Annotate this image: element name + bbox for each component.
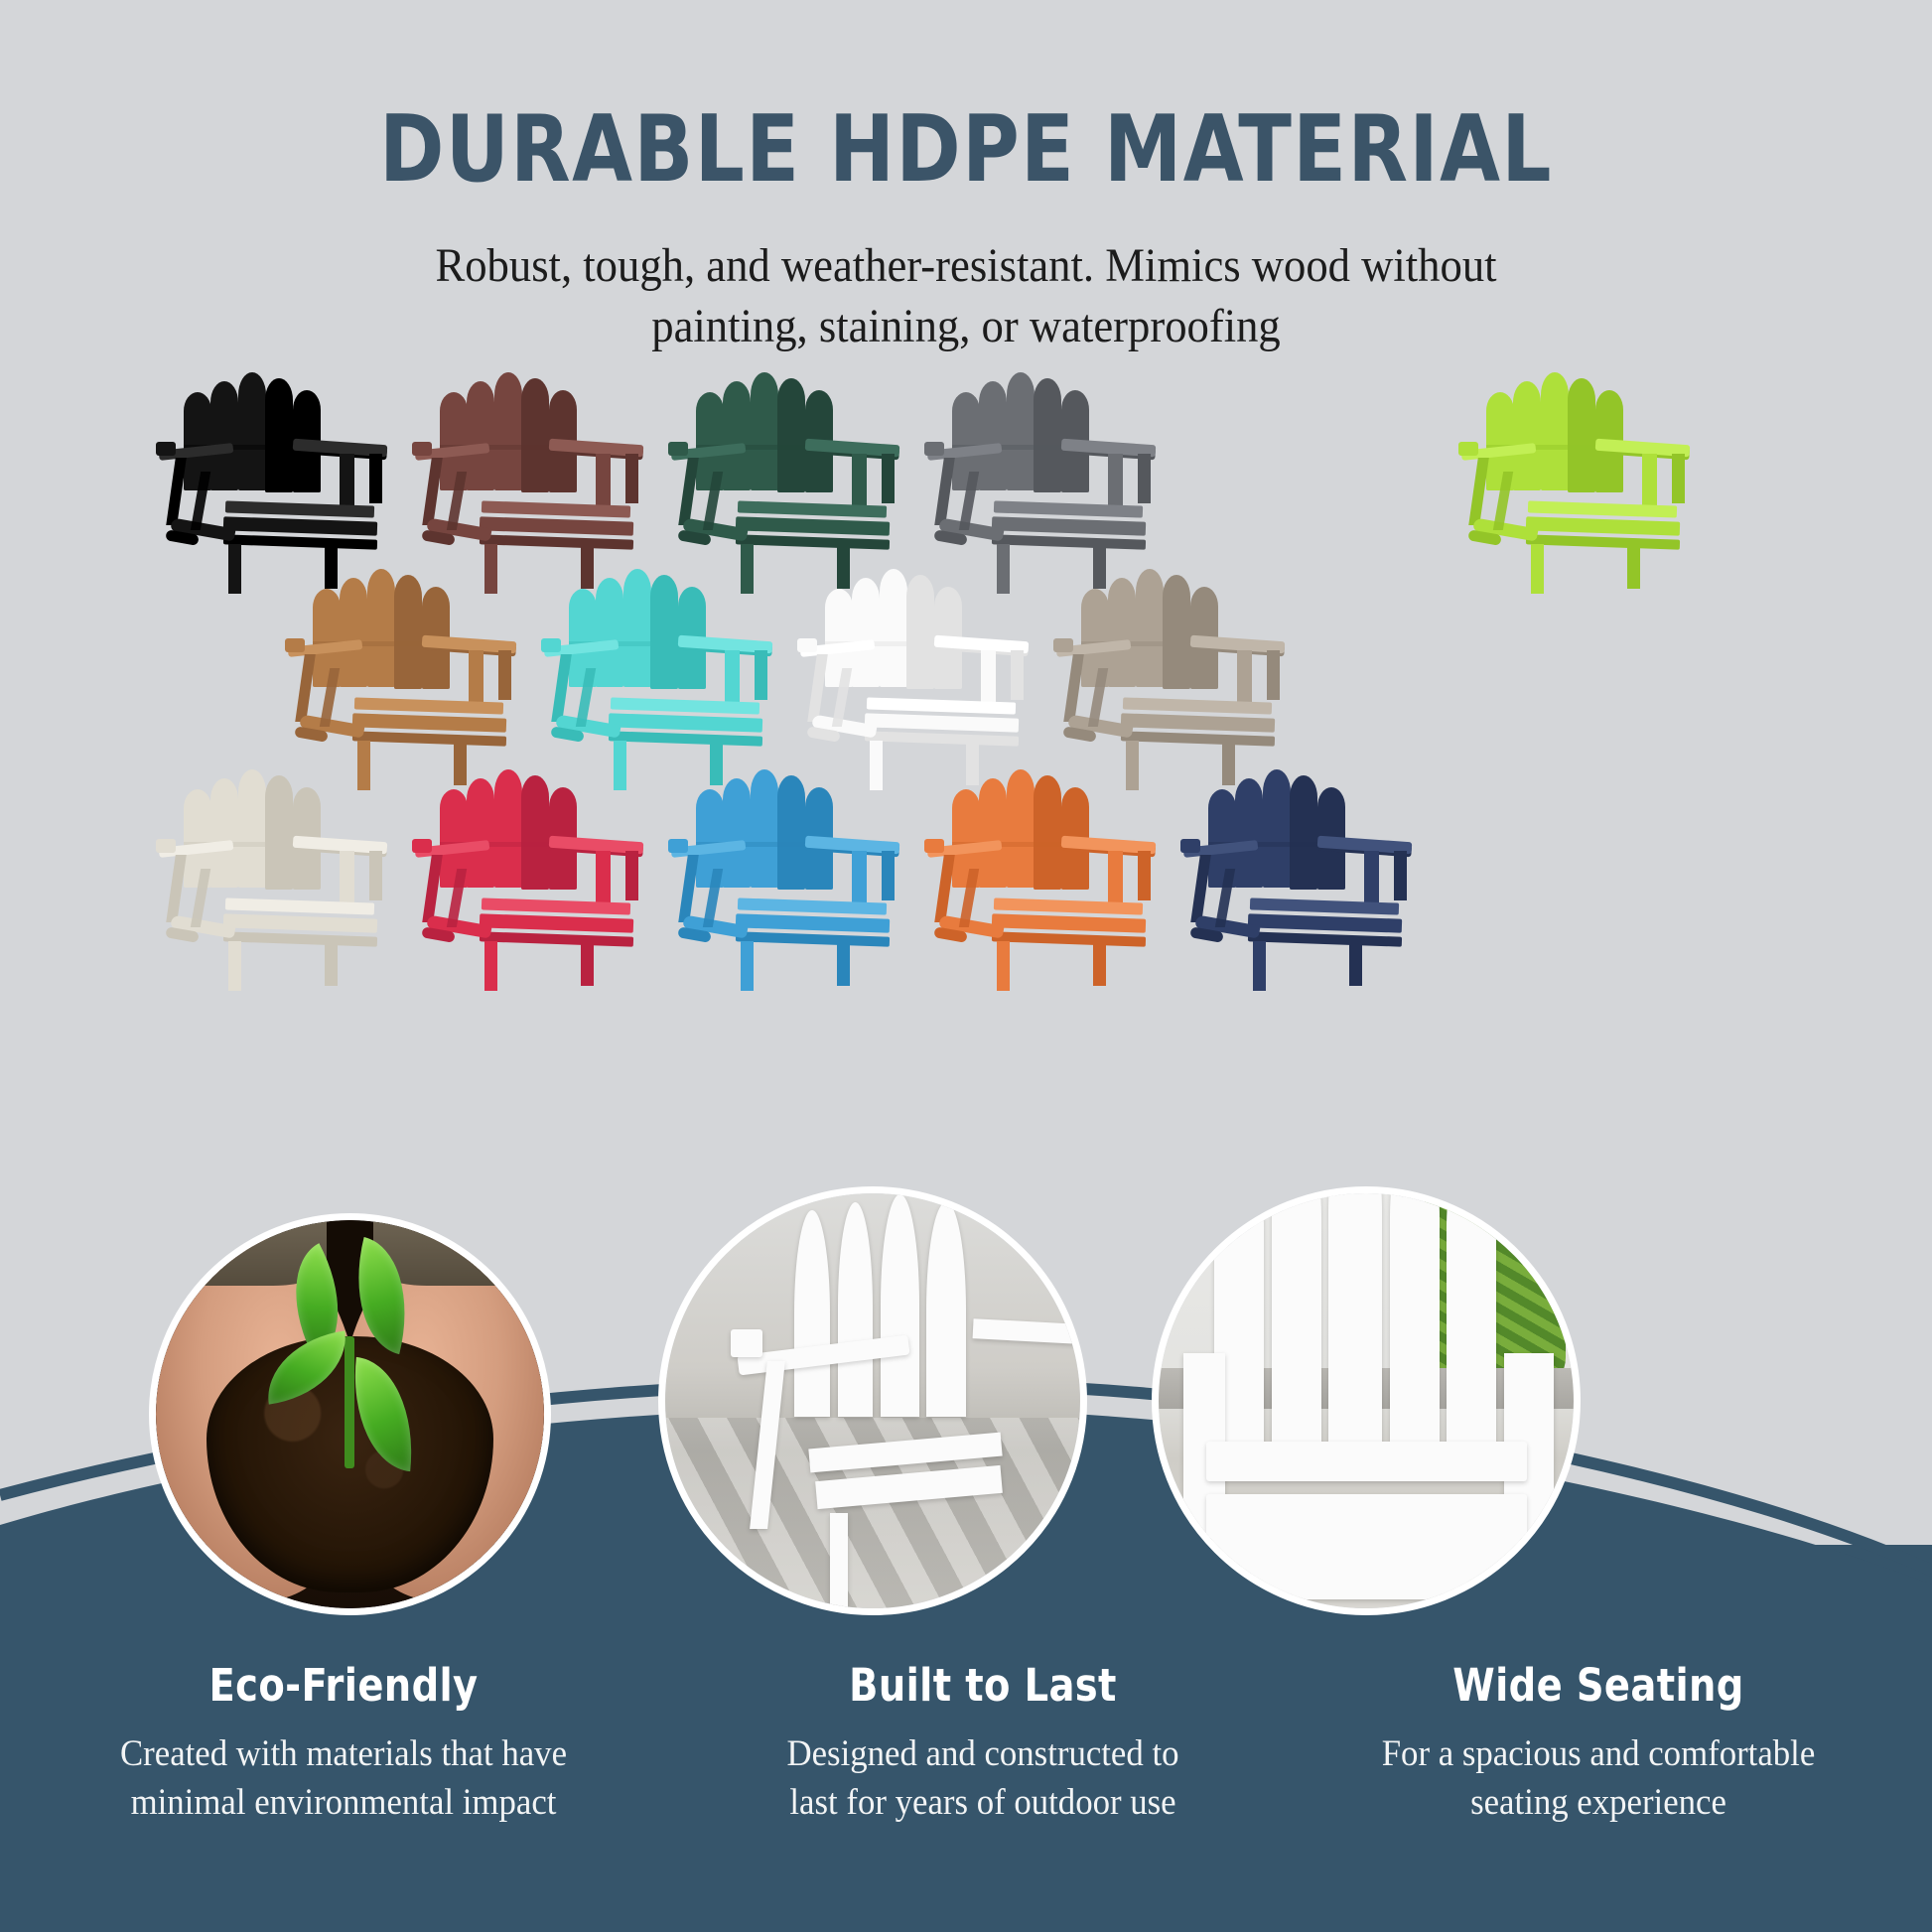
feature-title: Wide Seating bbox=[1334, 1659, 1863, 1712]
feature-title: Built to Last bbox=[719, 1659, 1247, 1712]
chair-swatch-white[interactable] bbox=[792, 564, 1040, 790]
chair-row-3 bbox=[0, 764, 1932, 991]
chair-swatch-dark-green[interactable] bbox=[663, 367, 911, 594]
chair-illustration bbox=[1048, 564, 1297, 790]
chair-illustration bbox=[663, 764, 911, 991]
chair-row-2 bbox=[0, 564, 1932, 790]
feature-desc-line-2: minimal environmental impact bbox=[82, 1778, 605, 1827]
feature-image-wide-seating bbox=[1152, 1186, 1581, 1615]
subtitle-line-2: painting, staining, or waterproofing bbox=[68, 296, 1864, 356]
feature-wide-seating: Wide Seating For a spacious and comforta… bbox=[1320, 1659, 1876, 1827]
chair-illustration bbox=[407, 367, 655, 594]
chair-illustration bbox=[1175, 764, 1424, 991]
feature-desc-line-1: For a spacious and comfortable bbox=[1337, 1729, 1860, 1778]
chair-swatch-orange[interactable] bbox=[919, 764, 1168, 991]
white-chair-wide-seat-photo bbox=[1159, 1193, 1574, 1608]
chair-illustration bbox=[792, 564, 1040, 790]
chair-illustration bbox=[280, 564, 528, 790]
chair-swatch-lime-green[interactable] bbox=[1453, 367, 1702, 594]
feature-title: Eco-Friendly bbox=[79, 1659, 608, 1712]
feature-image-eco-friendly bbox=[149, 1213, 551, 1615]
hands-sprout-photo bbox=[156, 1220, 544, 1608]
chair-illustration bbox=[663, 367, 911, 594]
feature-desc-line-2: seating experience bbox=[1337, 1778, 1860, 1827]
chair-illustration bbox=[1453, 367, 1702, 594]
chair-swatch-teak[interactable] bbox=[280, 564, 528, 790]
feature-image-built-to-last bbox=[658, 1186, 1087, 1615]
chair-swatch-navy[interactable] bbox=[1175, 764, 1424, 991]
feature-desc-line-1: Created with materials that have bbox=[82, 1729, 605, 1778]
chair-swatch-red[interactable] bbox=[407, 764, 655, 991]
chair-illustration bbox=[919, 367, 1168, 594]
chair-swatch-ivory[interactable] bbox=[151, 764, 399, 991]
chair-swatch-turquoise[interactable] bbox=[536, 564, 784, 790]
chair-illustration bbox=[919, 764, 1168, 991]
chair-illustration bbox=[407, 764, 655, 991]
chair-illustration bbox=[536, 564, 784, 790]
page-subtitle: Robust, tough, and weather-resistant. Mi… bbox=[68, 235, 1864, 357]
page-title: DURABLE HDPE MATERIAL bbox=[58, 103, 1873, 196]
white-chair-patio-photo bbox=[665, 1193, 1080, 1608]
chair-row-1 bbox=[0, 367, 1932, 594]
chair-swatch-brown[interactable] bbox=[407, 367, 655, 594]
feature-desc-line-1: Designed and constructed to bbox=[722, 1729, 1244, 1778]
header: DURABLE HDPE MATERIAL Robust, tough, and… bbox=[0, 0, 1932, 357]
feature-eco-friendly: Eco-Friendly Created with materials that… bbox=[66, 1659, 621, 1827]
chair-swatch-black[interactable] bbox=[151, 367, 399, 594]
feature-desc-line-2: last for years of outdoor use bbox=[722, 1778, 1244, 1827]
chair-illustration bbox=[151, 367, 399, 594]
chair-swatch-khaki-beige[interactable] bbox=[1048, 564, 1297, 790]
feature-built-to-last: Built to Last Designed and constructed t… bbox=[705, 1659, 1261, 1827]
subtitle-line-1: Robust, tough, and weather-resistant. Mi… bbox=[68, 235, 1864, 296]
chair-swatch-gray[interactable] bbox=[919, 367, 1168, 594]
chair-illustration bbox=[151, 764, 399, 991]
chair-swatch-light-blue[interactable] bbox=[663, 764, 911, 991]
